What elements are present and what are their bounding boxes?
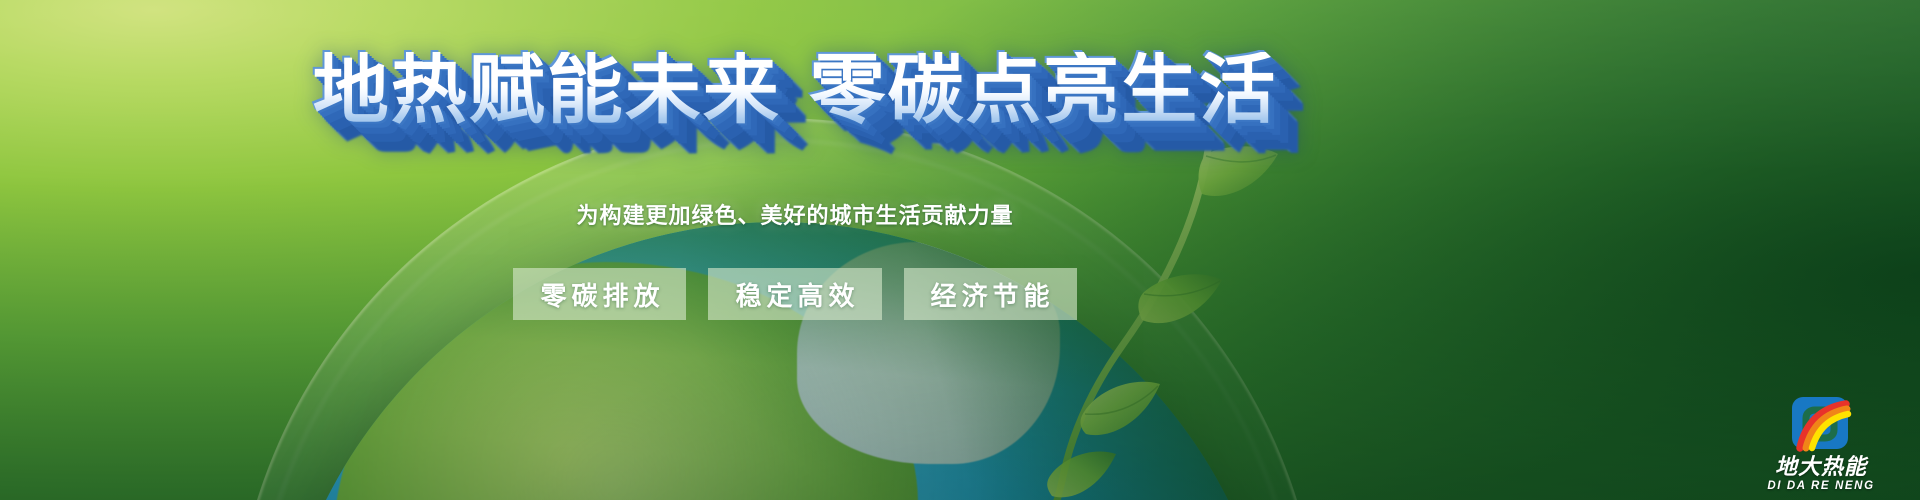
promo-banner: 地热赋能未来 零碳点亮生活 为构建更加绿色、美好的城市生活贡献力量 零碳排放 稳… <box>0 0 1920 500</box>
feature-badge-zero-carbon[interactable]: 零碳排放 <box>513 268 686 320</box>
banner-subtitle: 为构建更加绿色、美好的城市生活贡献力量 <box>0 198 1920 230</box>
banner-title-text: 地热赋能未来 零碳点亮生活 <box>313 52 1277 128</box>
logo-rainbow-mark-icon <box>1790 396 1852 454</box>
banner-subtitle-text: 为构建更加绿色、美好的城市生活贡献力量 <box>576 198 1013 230</box>
logo-name-en: DI DA RE NENG <box>1762 479 1880 494</box>
company-logo[interactable]: 地大热能 DI DA RE NENG <box>1762 396 1880 494</box>
banner-title: 地热赋能未来 零碳点亮生活 <box>0 52 1920 128</box>
feature-badge-stable-efficient[interactable]: 稳定高效 <box>708 268 881 320</box>
feature-badge-economical[interactable]: 经济节能 <box>904 268 1077 320</box>
banner-content: 地热赋能未来 零碳点亮生活 为构建更加绿色、美好的城市生活贡献力量 零碳排放 稳… <box>0 0 1920 500</box>
logo-name-cn: 地大热能 <box>1762 456 1880 479</box>
feature-badge-list: 零碳排放 稳定高效 经济节能 <box>0 268 1755 320</box>
